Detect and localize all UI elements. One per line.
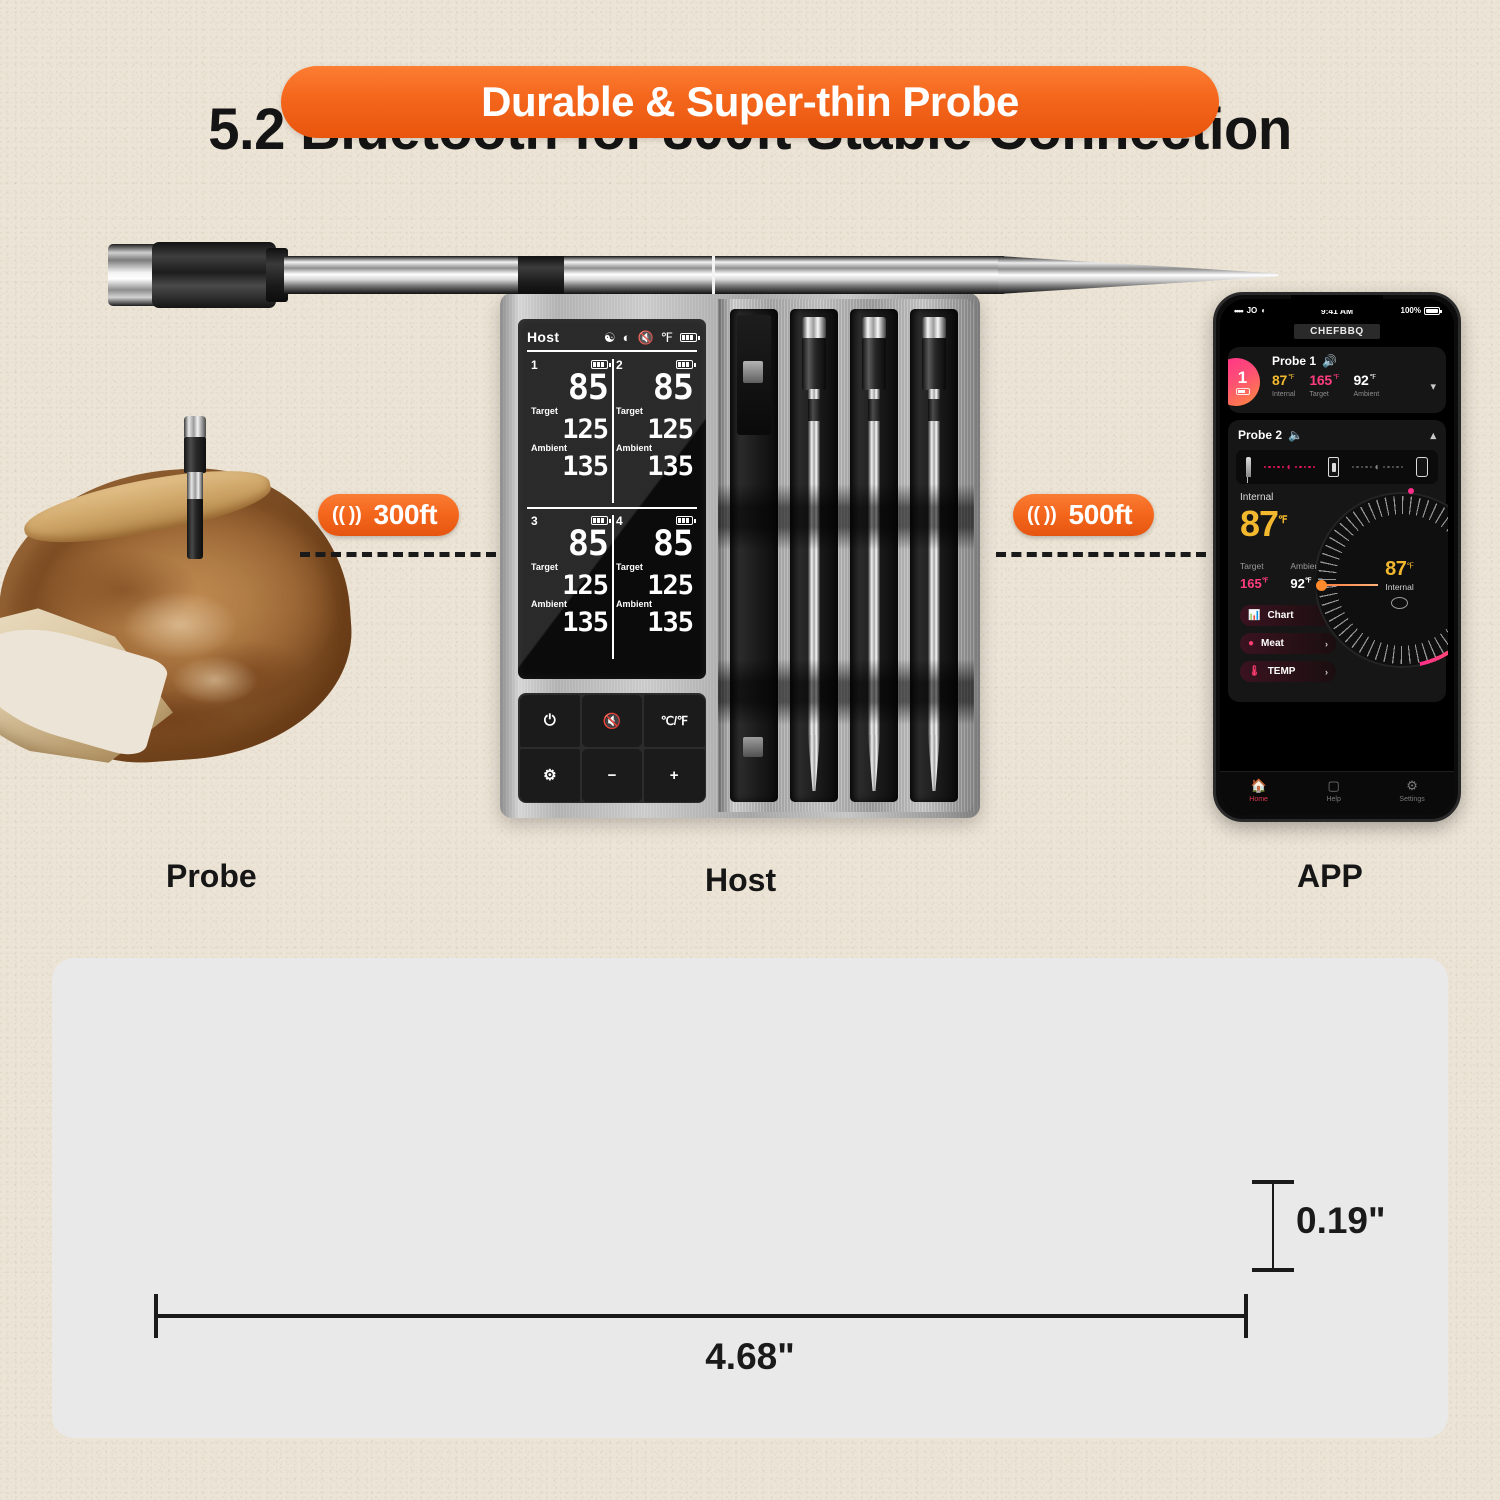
channel-number: 4 [616, 514, 623, 528]
phone-screen: •••• JO ◐ 9:41 AM 100% CHEFBBQ 1 Probe 1… [1220, 299, 1454, 815]
durable-probe-title-banner: Durable & Super-thin Probe [281, 66, 1219, 138]
channel-ambient-temp: 135 [531, 453, 608, 480]
target-block: Target 165℉ [1240, 556, 1268, 591]
target-value: 165℉ [1240, 576, 1268, 591]
probe-body [862, 338, 886, 390]
probe-tip [998, 256, 1278, 294]
probe-2-card[interactable]: Probe 2 🔈 ▴ ◐ ◐ In [1228, 420, 1446, 702]
probe-cap [802, 317, 826, 339]
bluetooth-range-badge-500: ((᚝)) 500ft [1013, 494, 1154, 536]
connection-chain-diagram: ◐ ◐ [1236, 450, 1438, 484]
lcd-row-1: 1 85 Target 125 Ambient 135 2 85 Target … [527, 357, 697, 505]
battery-percent: 100% [1401, 306, 1421, 315]
battery-icon [591, 516, 608, 525]
host-device-icon [1328, 457, 1339, 477]
steak-with-probe-image [0, 400, 380, 820]
fahrenheit-icon: ℉ [661, 331, 673, 344]
gauge-progress-arc [1316, 492, 1448, 668]
chevron-up-icon[interactable]: ▴ [1430, 429, 1436, 442]
probe-body [152, 242, 276, 308]
gauge-readout: 87℉ Internal [1385, 558, 1414, 609]
bluetooth-range-badge-300: ((᚝)) 300ft [318, 494, 459, 536]
probe-1-title: Probe 1 [1272, 354, 1316, 368]
lcd-divider [527, 350, 697, 352]
target-label: Target [1240, 561, 1264, 571]
unit-toggle-button[interactable]: ℃/℉ [644, 695, 705, 748]
label-probe: Probe [166, 858, 257, 895]
bay-charging-contact [743, 361, 763, 383]
probe-1-card[interactable]: 1 Probe 1 🔊 87℉ Internal 165℉ Target [1228, 347, 1446, 413]
channel-internal-temp: 85 [531, 371, 608, 406]
tab-help[interactable]: ▢ Help [1326, 778, 1340, 803]
diameter-dimension-line [1272, 1180, 1274, 1272]
probe-shaft [868, 389, 880, 737]
phone-app-mockup[interactable]: •••• JO ◐ 9:41 AM 100% CHEFBBQ 1 Probe 1… [1213, 292, 1461, 822]
probe-chrome-section [187, 472, 203, 500]
probe-2-title: Probe 2 [1238, 428, 1282, 442]
app-title-chip: CHEFBBQ [1294, 324, 1380, 339]
probe-body [184, 437, 206, 473]
stored-probe [919, 317, 949, 793]
probe-1-ambient: 92℉ Ambient [1354, 372, 1380, 398]
probe-band [928, 399, 940, 421]
probe-band [518, 256, 564, 294]
connection-line-host-app [996, 552, 1206, 557]
internal-label: Internal [1272, 391, 1295, 398]
gauge-target-marker [1408, 488, 1414, 494]
battery-icon [676, 516, 693, 525]
steak [0, 440, 360, 800]
channel-target-temp: 125 [616, 416, 693, 443]
host-lcd-screen: Host ☯ ◐ 🔇 ℉ 1 85 Target [518, 319, 706, 679]
temperature-gauge: 87℉ Internal [1316, 486, 1448, 686]
lcd-status-bar: Host ☯ ◐ 🔇 ℉ [527, 326, 697, 348]
probe-cap [862, 317, 886, 339]
channel-ambient-temp: 135 [616, 609, 693, 636]
probe-body [922, 338, 946, 390]
lcd-channel-3: 3 85 Target 125 Ambient 135 [527, 513, 612, 661]
bluetooth-icon: ◐ [1374, 462, 1380, 473]
host-left-panel: Host ☯ ◐ 🔇 ℉ 1 85 Target [508, 301, 713, 810]
signal-icon: ☯ [604, 331, 616, 344]
bluetooth-link-active: ◐ [1264, 462, 1315, 473]
minus-button[interactable]: − [582, 749, 643, 802]
probe-shaft [928, 389, 940, 737]
chevron-down-icon[interactable]: ▾ [1430, 380, 1436, 393]
tab-help-label: Help [1326, 796, 1340, 803]
probe-diagram [108, 230, 1268, 320]
steak-marbling [120, 590, 240, 660]
diameter-dimension-cap-bottom [1252, 1268, 1294, 1272]
probe-tip [928, 735, 940, 791]
lcd-status-icons: ☯ ◐ 🔇 ℉ [604, 331, 697, 344]
probe-device-icon [1246, 457, 1251, 477]
gauge-needle-hub [1316, 580, 1327, 591]
probe-tip [868, 735, 880, 791]
lcd-channel-2: 2 85 Target 125 Ambient 135 [612, 357, 697, 505]
range-label-500: 500ft [1068, 499, 1132, 531]
channel-ambient-temp: 135 [616, 453, 693, 480]
channel-number: 3 [531, 514, 538, 528]
bluetooth-link-idle: ◐ [1352, 462, 1403, 473]
tab-home-label: Home [1249, 796, 1268, 803]
chart-icon: 📊 [1248, 610, 1260, 621]
lcd-channel-1: 1 85 Target 125 Ambient 135 [527, 357, 612, 505]
host-button-panel: ⏻ 🔇 ℃/℉ ⚙ − + [518, 693, 706, 803]
probe-band [868, 399, 880, 421]
mute-icon: 🔇 [637, 331, 653, 344]
alarm-icon[interactable]: 🔊 [1322, 354, 1337, 368]
temp-pill-label: TEMP [1268, 666, 1296, 677]
gauge-readout-label: Internal [1385, 582, 1414, 592]
probe-cap [922, 317, 946, 339]
probe-1-internal: 87℉ Internal [1272, 372, 1295, 398]
host-probe-bays [718, 299, 974, 812]
probe-cap [184, 416, 206, 438]
channel-number: 2 [616, 358, 623, 372]
length-label: 4.68" [0, 1336, 1500, 1378]
phone-device-icon [1416, 457, 1428, 477]
channel-number: 1 [531, 358, 538, 372]
wifi-icon: ◐ [623, 331, 631, 344]
help-icon: ▢ [1328, 778, 1340, 794]
target-label: Target [1309, 391, 1339, 398]
plus-button[interactable]: + [644, 749, 705, 802]
lcd-channel-grid: 1 85 Target 125 Ambient 135 2 85 Target … [518, 355, 706, 679]
probe-1-target: 165℉ Target [1309, 372, 1339, 398]
probe-bay-filled[interactable] [790, 309, 838, 802]
temp-icon: 🌡 [1248, 666, 1261, 677]
app-tab-bar: 🏠 Home ▢ Help ⚙ Settings [1220, 771, 1454, 815]
phone-notch [1291, 295, 1383, 310]
channel-internal-temp: 85 [616, 527, 693, 562]
channel-target-temp: 125 [616, 572, 693, 599]
battery-icon [1236, 388, 1250, 395]
ambient-label: Ambient [1354, 391, 1380, 398]
power-button[interactable]: ⏻ [520, 695, 581, 748]
battery-icon [676, 360, 693, 369]
label-app: APP [1297, 858, 1363, 895]
probe-marker-line [712, 256, 715, 294]
bluetooth-icon: ◐ [1286, 462, 1292, 473]
tab-home[interactable]: 🏠 Home [1249, 778, 1268, 803]
channel-target-temp: 125 [531, 572, 608, 599]
tab-settings[interactable]: ⚙ Settings [1399, 778, 1424, 803]
probe-shaft [808, 389, 820, 737]
probe-1-number: 1 [1238, 370, 1247, 386]
chart-pill-label: Chart [1267, 610, 1293, 621]
probe-bay-filled[interactable] [910, 309, 958, 802]
settings-button[interactable]: ⚙ [520, 749, 581, 802]
tab-settings-label: Settings [1399, 796, 1424, 803]
host-device[interactable]: Host ☯ ◐ 🔇 ℉ 1 85 Target [500, 293, 980, 818]
probe-1-badge: 1 [1228, 358, 1260, 406]
label-host: Host [705, 862, 776, 899]
bluetooth-icon: ((᚝)) [332, 504, 361, 526]
battery-icon [591, 360, 608, 369]
stored-probe [799, 317, 829, 793]
probe-body [802, 338, 826, 390]
channel-internal-temp: 85 [616, 371, 693, 406]
probe-shaft [284, 256, 1004, 294]
lcd-channel-4: 4 85 Target 125 Ambient 135 [612, 513, 697, 661]
lcd-row-divider [527, 507, 697, 509]
home-icon: 🏠 [1251, 778, 1267, 794]
gauge-needle [1320, 584, 1378, 586]
probe-shaft [187, 499, 203, 559]
probe-band [808, 399, 820, 421]
channel-internal-temp: 85 [531, 527, 608, 562]
battery-icon [1424, 307, 1440, 315]
meat-icon: ● [1248, 638, 1254, 649]
mute-button[interactable]: 🔇 [582, 695, 643, 748]
stored-probe [859, 317, 889, 793]
gear-icon: ⚙ [1406, 778, 1418, 794]
meat-pill-label: Meat [1261, 638, 1284, 649]
length-dimension-line [156, 1314, 1246, 1318]
lcd-row-2: 3 85 Target 125 Ambient 135 4 85 Target … [527, 513, 697, 661]
battery-icon [680, 333, 697, 342]
channel-target-temp: 125 [531, 416, 608, 443]
length-dimension-cap-right [1244, 1294, 1248, 1338]
steak-marbling [170, 655, 260, 705]
diameter-label: 0.19" [1296, 1200, 1386, 1242]
alarm-icon[interactable]: 🔈 [1288, 428, 1303, 442]
meat-icon [1391, 597, 1408, 609]
bay-charging-contact [743, 737, 763, 757]
channel-ambient-temp: 135 [531, 609, 608, 636]
connection-line-probe-host [300, 552, 496, 557]
bluetooth-icon: ((᚝)) [1027, 504, 1056, 526]
probe-2-detail: Internal 87℉ Target 165℉ Ambient 92℉ [1236, 492, 1438, 692]
probe-bay-empty[interactable] [730, 309, 778, 802]
probe-inserted-in-steak [182, 416, 208, 566]
probe-tip [808, 735, 820, 791]
lcd-host-label: Host [527, 329, 559, 345]
probe-bay-filled[interactable] [850, 309, 898, 802]
range-label-300: 300ft [373, 499, 437, 531]
